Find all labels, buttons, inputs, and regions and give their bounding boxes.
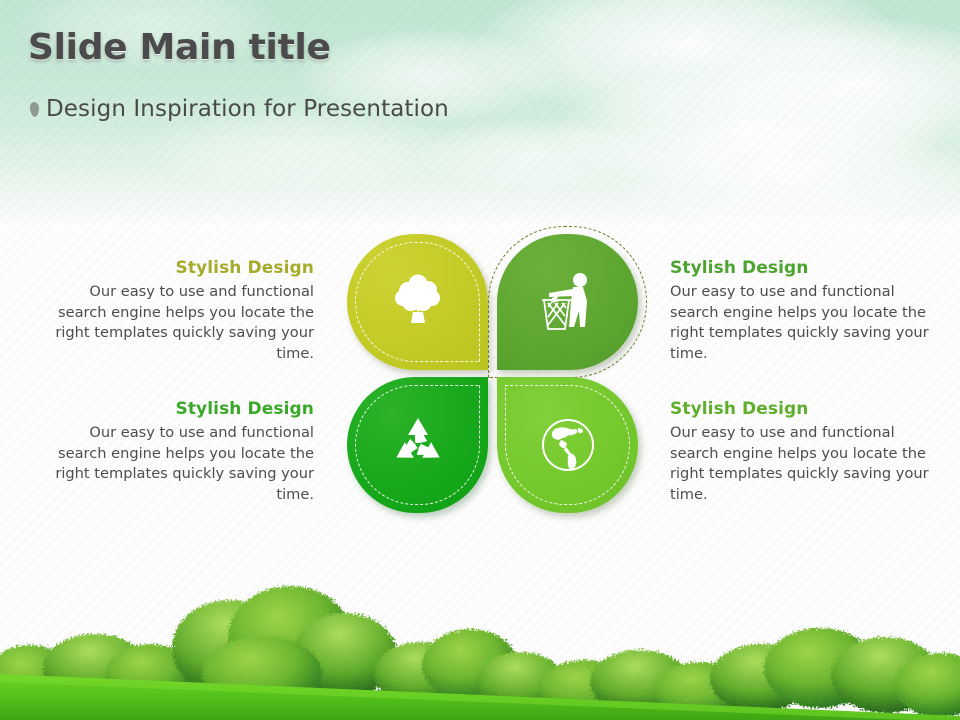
recycle-icon bbox=[347, 377, 488, 513]
cloud-shape bbox=[700, 20, 960, 150]
text-block-top-left: Stylish Design Our easy to use and funct… bbox=[52, 258, 314, 364]
cloud-shape bbox=[560, 70, 940, 190]
block-body: Our easy to use and functional search en… bbox=[670, 282, 932, 364]
cloud-shape bbox=[150, 110, 450, 190]
block-heading: Stylish Design bbox=[52, 399, 314, 419]
block-heading: Stylish Design bbox=[670, 399, 932, 419]
slide-canvas: Slide Main title Design Inspiration for … bbox=[0, 0, 960, 720]
subtitle-row: Design Inspiration for Presentation bbox=[30, 96, 449, 122]
block-body: Our easy to use and functional search en… bbox=[670, 423, 932, 505]
cloud-shape bbox=[620, 120, 960, 230]
petal-top-right[interactable] bbox=[497, 234, 638, 370]
leaf-bullet-icon bbox=[29, 101, 39, 117]
cloud-shape bbox=[420, 120, 660, 190]
block-heading: Stylish Design bbox=[52, 258, 314, 278]
petal-bottom-right[interactable] bbox=[497, 377, 638, 513]
text-block-bottom-left: Stylish Design Our easy to use and funct… bbox=[52, 399, 314, 505]
petal-diagram bbox=[347, 234, 638, 513]
cloud-shape bbox=[480, 0, 900, 120]
tree-icon bbox=[347, 234, 488, 370]
text-block-top-right: Stylish Design Our easy to use and funct… bbox=[670, 258, 932, 364]
block-body: Our easy to use and functional search en… bbox=[52, 282, 314, 364]
page-subtitle: Design Inspiration for Presentation bbox=[46, 96, 449, 122]
litter-bin-icon bbox=[497, 234, 638, 370]
petal-bottom-left[interactable] bbox=[347, 377, 488, 513]
page-title: Slide Main title bbox=[28, 27, 331, 68]
petal-top-left[interactable] bbox=[347, 234, 488, 370]
text-block-bottom-right: Stylish Design Our easy to use and funct… bbox=[670, 399, 932, 505]
block-body: Our easy to use and functional search en… bbox=[52, 423, 314, 505]
block-heading: Stylish Design bbox=[670, 258, 932, 278]
tree-line-scenery bbox=[0, 570, 960, 720]
globe-icon bbox=[497, 377, 638, 513]
